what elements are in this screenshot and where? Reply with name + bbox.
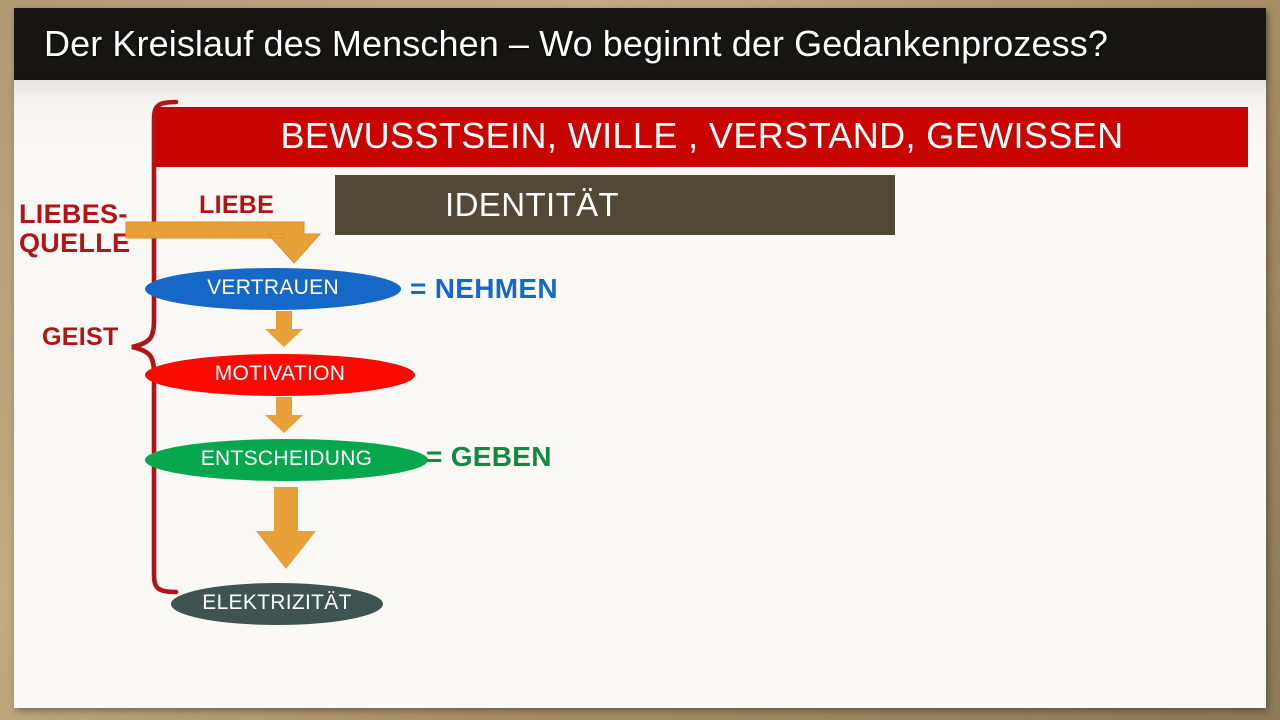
node-motivation: MOTIVATION	[145, 354, 415, 396]
label-liebesquelle: LIEBES- QUELLE	[19, 200, 139, 257]
node-motivation-label: MOTIVATION	[215, 362, 346, 386]
node-entscheidung-label: ENTSCHEIDUNG	[201, 447, 373, 471]
slide-title-bar: Der Kreislauf des Menschen – Wo beginnt …	[14, 8, 1266, 80]
equation-geben: = GEBEN	[426, 441, 552, 473]
box-identitaet-label: IDENTITÄT	[335, 186, 619, 224]
liebe-bent-arrow-icon	[124, 220, 324, 265]
label-liebesquelle-line1: LIEBES-	[19, 200, 139, 229]
down-arrow-motivation-entscheidung-icon	[263, 397, 305, 434]
slide-canvas: LIEBES- QUELLE GEIST LIEBE BEWUSSTSEIN, …	[14, 80, 1266, 708]
node-elektrizitaet-label: ELEKTRIZITÄT	[202, 591, 351, 615]
curly-brace-icon	[124, 98, 184, 598]
node-entscheidung: ENTSCHEIDUNG	[145, 439, 428, 481]
slide-title: Der Kreislauf des Menschen – Wo beginnt …	[14, 23, 1108, 65]
down-arrow-entscheidung-elektrizitaet-icon	[254, 487, 318, 571]
banner-bewusstsein-label: BEWUSSTSEIN, WILLE , VERSTAND, GEWISSEN	[280, 115, 1123, 157]
node-elektrizitaet: ELEKTRIZITÄT	[171, 583, 383, 625]
label-liebesquelle-line2: QUELLE	[19, 229, 139, 258]
box-identitaet: IDENTITÄT	[335, 175, 895, 235]
down-arrow-vertrauen-motivation-icon	[263, 311, 305, 348]
label-liebe: LIEBE	[199, 192, 274, 219]
node-vertrauen-label: VERTRAUEN	[207, 276, 339, 300]
node-vertrauen: VERTRAUEN	[145, 268, 401, 310]
label-geist: GEIST	[42, 324, 119, 351]
banner-bewusstsein: BEWUSSTSEIN, WILLE , VERSTAND, GEWISSEN	[156, 107, 1248, 167]
slide-root: Der Kreislauf des Menschen – Wo beginnt …	[0, 0, 1280, 720]
equation-nehmen: = NEHMEN	[410, 273, 558, 305]
